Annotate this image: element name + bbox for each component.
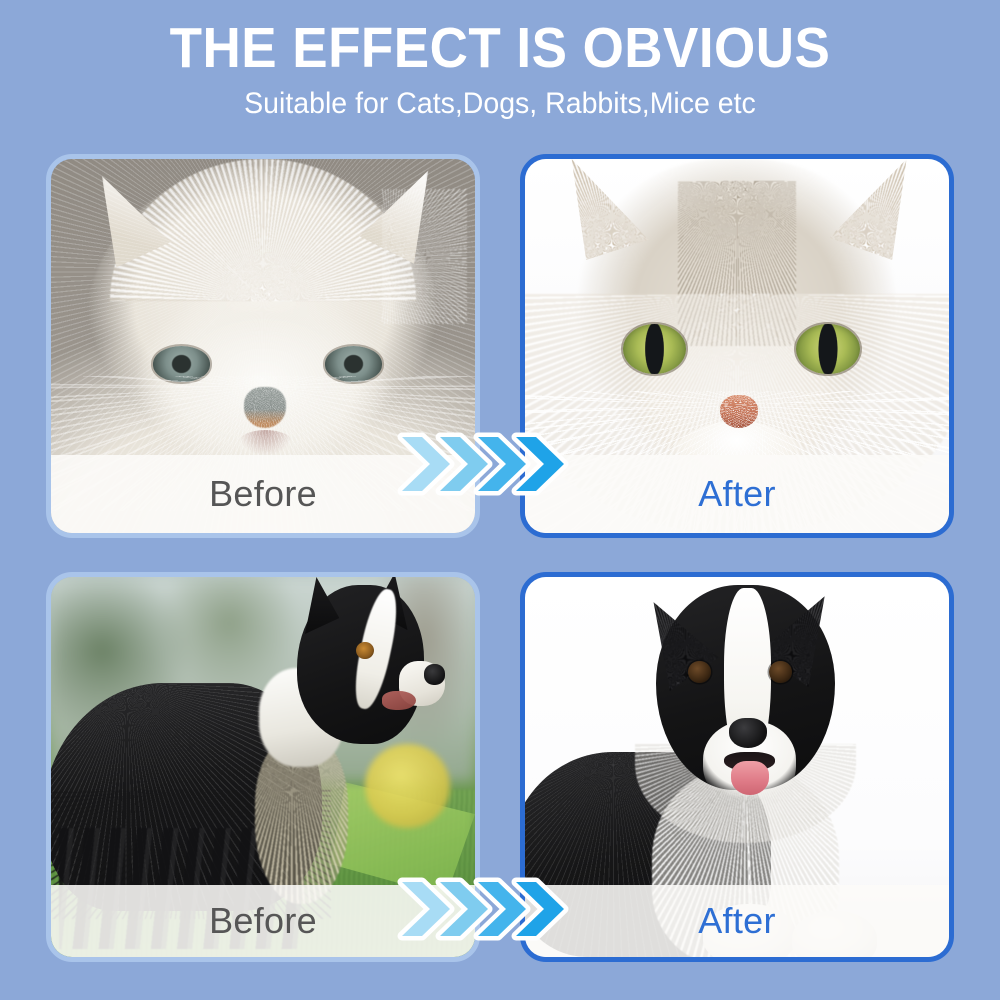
- header-banner: THE EFFECT IS OBVIOUS Suitable for Cats,…: [0, 0, 1000, 140]
- comparison-grid: Before After: [0, 148, 1000, 978]
- label-strip-dog-after: After: [525, 885, 949, 957]
- comparison-card-cat-before[interactable]: Before: [46, 154, 480, 538]
- comparison-card-dog-before[interactable]: Before: [46, 572, 480, 962]
- after-label: After: [698, 473, 776, 515]
- label-strip-cat-before: Before: [51, 455, 475, 533]
- comparison-card-cat-after[interactable]: After: [520, 154, 954, 538]
- label-strip-dog-before: Before: [51, 885, 475, 957]
- after-label: After: [698, 900, 776, 942]
- page-title: THE EFFECT IS OBVIOUS: [35, 18, 965, 78]
- cat-eye-right-icon: [796, 324, 860, 374]
- label-strip-cat-after: After: [525, 455, 949, 533]
- comparison-card-dog-after[interactable]: After: [520, 572, 954, 962]
- before-label: Before: [209, 900, 317, 942]
- cat-eye-left-icon: [623, 324, 687, 374]
- page-subtitle: Suitable for Cats,Dogs, Rabbits,Mice etc: [25, 86, 975, 122]
- before-label: Before: [209, 473, 317, 515]
- dog-eye-icon: [356, 642, 374, 659]
